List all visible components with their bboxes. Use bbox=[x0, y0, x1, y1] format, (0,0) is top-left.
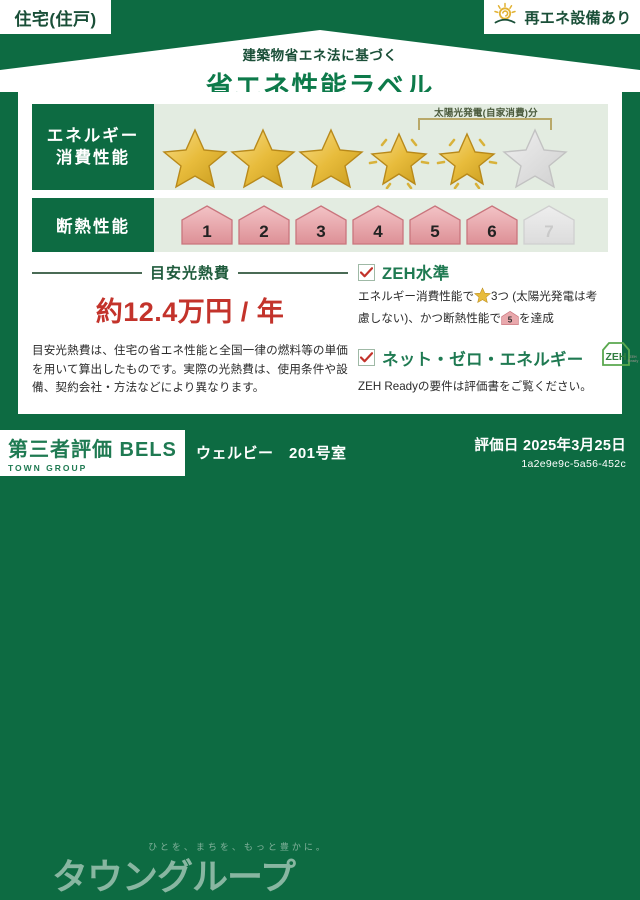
insulation-performance-row: 断熱性能 1 2 3 4 bbox=[32, 198, 608, 252]
svg-text:ZEH: ZEH bbox=[605, 351, 626, 363]
energy-performance-label: エネルギー 消費性能 bbox=[32, 104, 154, 190]
insulation-scale: 1 2 3 4 5 bbox=[180, 204, 576, 246]
svg-text:5: 5 bbox=[508, 316, 513, 325]
sun-icon bbox=[492, 2, 518, 33]
insulation-level-5-number: 5 bbox=[408, 222, 462, 242]
net-zero-energy-title: ネット・ゼロ・エネルギー bbox=[382, 346, 584, 370]
cost-rule-right bbox=[238, 272, 348, 274]
label-subtitle: 建築物省エネ法に基づく bbox=[0, 44, 640, 64]
inline-star-icon bbox=[474, 287, 491, 309]
watermark: ひとを、まちを、もっと豊かに。 タウングループ bbox=[16, 838, 436, 892]
star-filled-2 bbox=[230, 126, 296, 189]
star-empty-6 bbox=[502, 126, 568, 189]
star-filled-1 bbox=[162, 126, 228, 189]
cost-heading-row: 目安光熱費 bbox=[32, 262, 348, 283]
star-filled-3 bbox=[298, 126, 364, 189]
footer-bar: ひとを、まちを、もっと豊かに。 タウングループ 第三者評価 BELS TOWN … bbox=[0, 414, 640, 478]
room-name: ウェルビー 201号室 bbox=[196, 442, 347, 463]
net-zero-energy-row: ネット・ゼロ・エネルギー ZEH ZEH Ready bbox=[358, 341, 608, 374]
inline-house-level-badge: 5 bbox=[501, 310, 519, 332]
insulation-level-2-number: 2 bbox=[237, 222, 291, 242]
renewable-energy-chip: 再エネ設備あり bbox=[482, 0, 640, 36]
bels-subtitle: TOWN GROUP bbox=[8, 463, 185, 473]
insulation-level-3: 3 bbox=[294, 204, 348, 246]
zeh-standard-text-c: を達成 bbox=[519, 312, 554, 325]
insulation-level-4-number: 4 bbox=[351, 222, 405, 242]
energy-star-rating bbox=[162, 126, 568, 189]
check-icon bbox=[358, 264, 375, 281]
insulation-level-1-number: 1 bbox=[180, 222, 234, 242]
cost-note: 目安光熱費は、住宅の省エネ性能と全国一律の燃料等の単価を用いて算出したものです。… bbox=[32, 342, 348, 398]
insulation-level-7-number: 7 bbox=[522, 222, 576, 242]
cost-rule-left bbox=[32, 272, 142, 274]
cost-heading: 目安光熱費 bbox=[150, 262, 230, 283]
net-zero-energy-text: ZEH Readyの要件は評価書をご覧ください。 bbox=[358, 377, 608, 396]
insulation-level-6: 6 bbox=[465, 204, 519, 246]
evaluation-info: 評価日 2025年3月25日 1a2e9e9c-5a56-452c bbox=[474, 434, 626, 470]
svg-text:Ready: Ready bbox=[627, 359, 638, 363]
star-filled-solar-5 bbox=[434, 126, 500, 189]
bels-title: 第三者評価 BELS bbox=[8, 433, 185, 462]
solar-caption: 太陽光発電(自家消費)分 bbox=[412, 105, 560, 119]
house-type-label: 住宅(住戸) bbox=[14, 5, 96, 30]
lower-section: 目安光熱費 約12.4万円 / 年 目安光熱費は、住宅の省エネ性能と全国一律の燃… bbox=[32, 260, 608, 402]
cost-value: 約12.4万円 / 年 bbox=[32, 290, 348, 329]
insulation-level-5: 5 bbox=[408, 204, 462, 246]
zeh-standard-text: エネルギー消費性能で3つ (太陽光発電は考慮しない)、かつ断熱性能で5を達成 bbox=[358, 287, 608, 332]
insulation-level-1: 1 bbox=[180, 204, 234, 246]
renewable-energy-label: 再エネ設備あり bbox=[524, 7, 631, 28]
insulation-performance-label: 断熱性能 bbox=[32, 198, 154, 252]
label-card: エネルギー 消費性能 太陽光発電(自家消費)分 bbox=[18, 92, 622, 414]
zeh-column: ZEH水準 エネルギー消費性能で3つ (太陽光発電は考慮しない)、かつ断熱性能で… bbox=[358, 260, 608, 396]
watermark-name: タウングループ bbox=[52, 848, 295, 900]
zeh-standard-row: ZEH水準 bbox=[358, 260, 608, 284]
evaluation-id: 1a2e9e9c-5a56-452c bbox=[474, 458, 626, 470]
energy-label-page: 住宅(住戸) 再エネ設備あり 建築物省エネ法に基づく 省エネ性能ラベル bbox=[0, 0, 640, 478]
energy-performance-row: エネルギー 消費性能 太陽光発電(自家消費)分 bbox=[32, 104, 608, 190]
insulation-level-6-number: 6 bbox=[465, 222, 519, 242]
check-icon bbox=[358, 349, 375, 366]
zeh-ready-logo: ZEH ZEH Ready bbox=[594, 341, 640, 374]
insulation-level-7: 7 bbox=[522, 204, 576, 246]
insulation-level-2: 2 bbox=[237, 204, 291, 246]
evaluation-date: 評価日 2025年3月25日 bbox=[474, 434, 626, 455]
insulation-level-3-number: 3 bbox=[294, 222, 348, 242]
insulation-level-4: 4 bbox=[351, 204, 405, 246]
zeh-standard-text-a: エネルギー消費性能で bbox=[358, 290, 474, 303]
cost-column: 目安光熱費 約12.4万円 / 年 目安光熱費は、住宅の省エネ性能と全国一律の燃… bbox=[32, 260, 348, 398]
star-filled-solar-4 bbox=[366, 126, 432, 189]
zeh-standard-title: ZEH水準 bbox=[382, 260, 450, 284]
house-type-chip: 住宅(住戸) bbox=[0, 0, 113, 36]
bels-badge: 第三者評価 BELS TOWN GROUP bbox=[0, 430, 185, 476]
watermark-tagline: ひとを、まちを、もっと豊かに。 bbox=[88, 840, 388, 853]
